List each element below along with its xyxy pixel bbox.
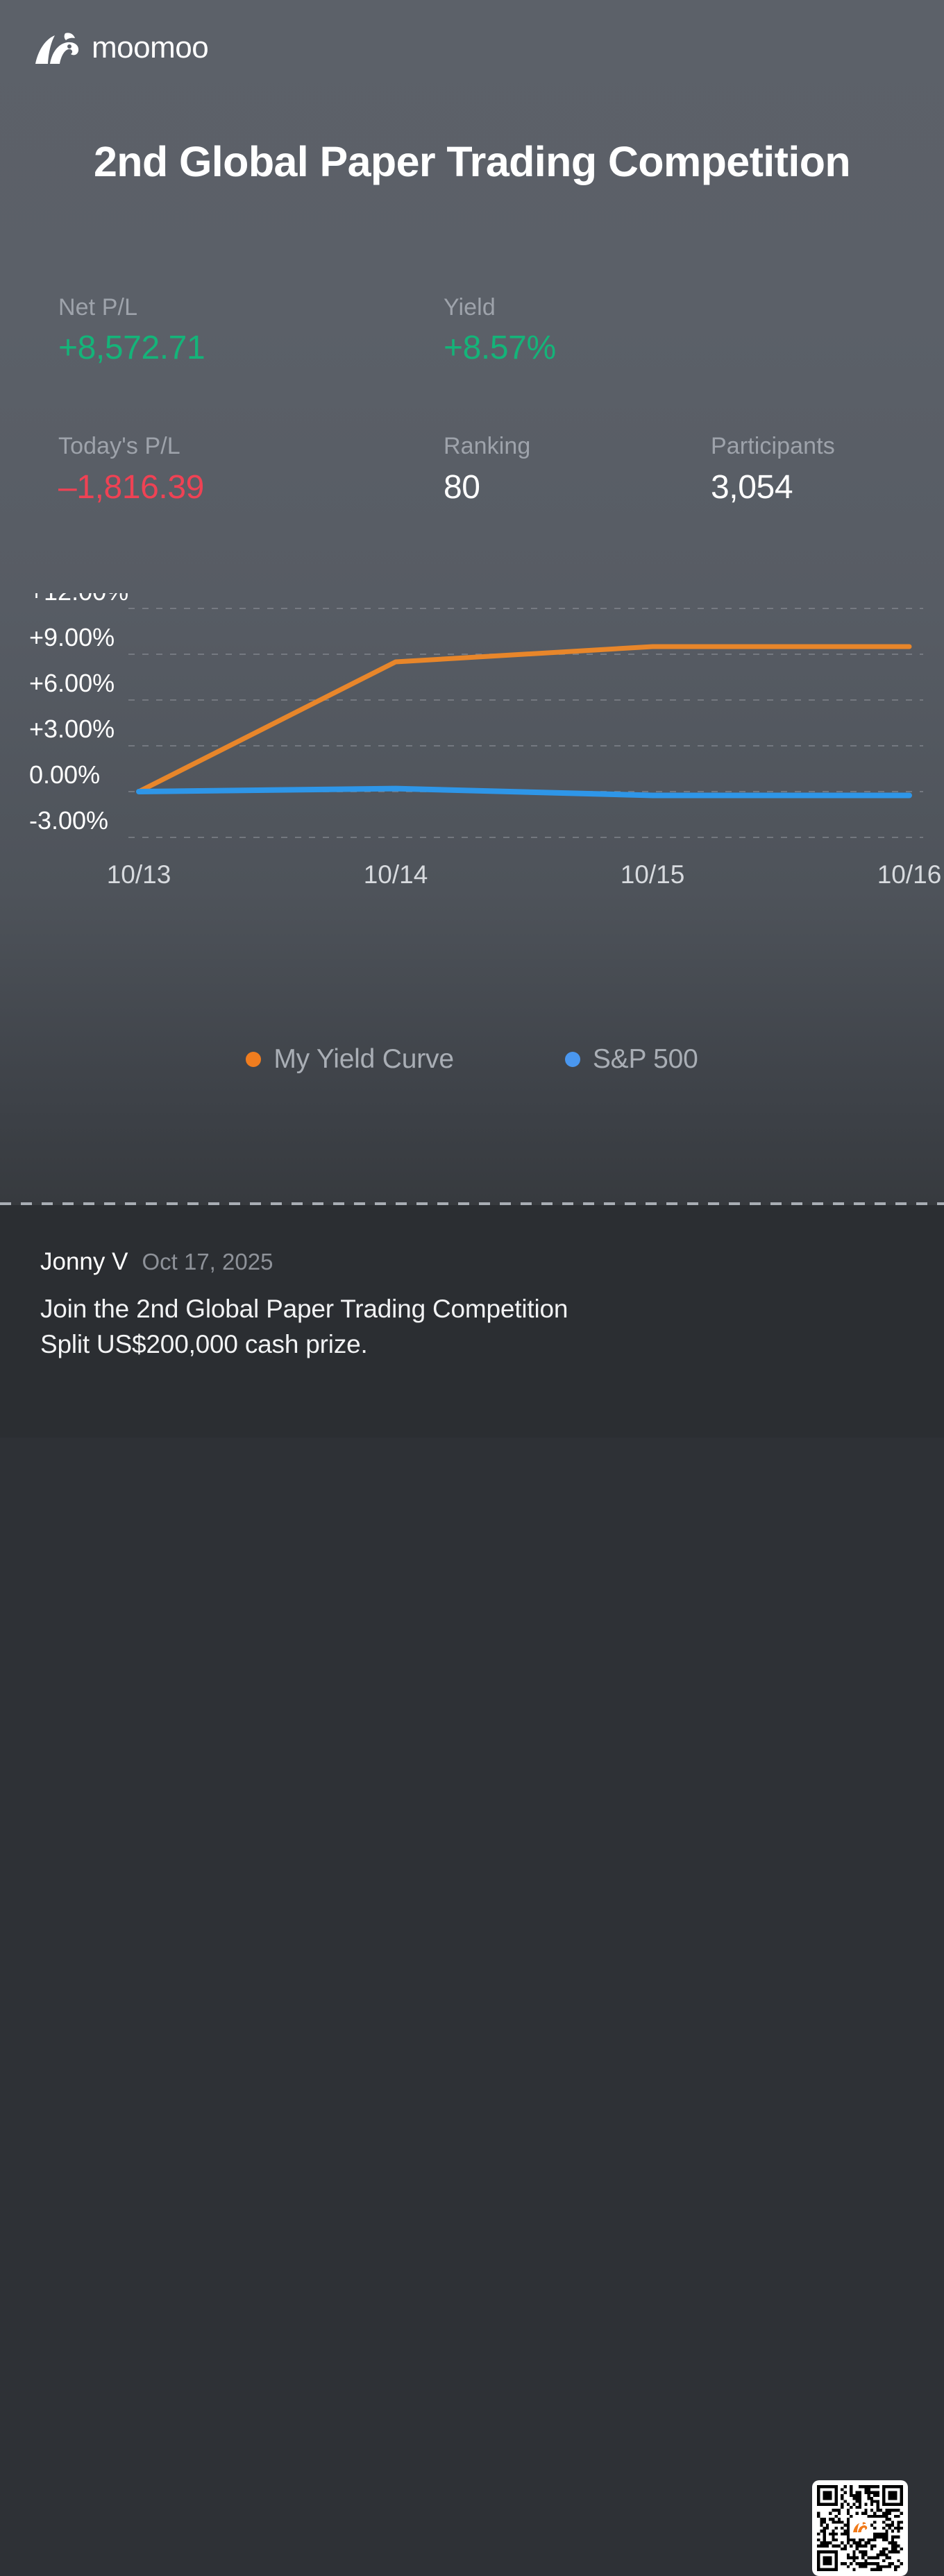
stat-participants-label: Participants xyxy=(711,434,944,459)
footer: Jonny V Oct 17, 2025 Join the 2nd Global… xyxy=(0,1205,944,1438)
chart-y-tick-label: 0.00% xyxy=(29,760,100,789)
stat-spacer xyxy=(652,295,944,367)
share-card: moomoo 2nd Global Paper Trading Competit… xyxy=(0,0,944,1438)
stat-net-pl-label: Net P/L xyxy=(58,295,385,321)
stat-net-pl-value: +8,572.71 xyxy=(58,330,385,367)
stats-row-1: Net P/L +8,572.71 Yield +8.57% xyxy=(0,295,944,367)
legend-dot-icon-my-yield-curve xyxy=(246,1052,261,1067)
stat-ranking: Ranking 80 xyxy=(385,434,652,506)
legend-label-my-yield-curve: My Yield Curve xyxy=(273,1044,453,1075)
stat-participants: Participants 3,054 xyxy=(652,434,944,506)
chart-x-tick-label: 10/14 xyxy=(364,860,428,889)
legend-dot-icon-sp500 xyxy=(565,1052,580,1067)
author-name: Jonny V xyxy=(40,1248,128,1276)
promo-line-2: Split US$200,000 cash prize. xyxy=(40,1327,790,1362)
stat-net-pl: Net P/L +8,572.71 xyxy=(0,295,385,367)
legend-item-my-yield-curve: My Yield Curve xyxy=(246,1044,453,1075)
brand-logo: moomoo xyxy=(33,29,208,67)
chart-series-line-my-yield-curve xyxy=(139,647,909,792)
chart-y-tick-label: +9.00% xyxy=(29,623,115,651)
publish-date: Oct 17, 2025 xyxy=(142,1249,273,1275)
stat-ranking-value: 80 xyxy=(444,470,652,506)
stats-row-2: Today's P/L –1,816.39 Ranking 80 Partici… xyxy=(0,434,944,506)
stat-todays-pl-value: –1,816.39 xyxy=(58,470,385,506)
legend-item-sp500: S&P 500 xyxy=(565,1044,698,1075)
chart-y-tick-label: +3.00% xyxy=(29,715,115,743)
stat-todays-pl-label: Today's P/L xyxy=(58,434,385,459)
legend-label-sp500: S&P 500 xyxy=(593,1044,698,1075)
chart-y-tick-label: +12.00% xyxy=(29,593,128,606)
yield-curve-chart: +12.00%+9.00%+6.00%+3.00%0.00%-3.00%10/1… xyxy=(0,593,944,1065)
stat-yield: Yield +8.57% xyxy=(385,295,652,367)
chart-legend: My Yield Curve S&P 500 xyxy=(0,1044,944,1075)
stats-panel: Net P/L +8,572.71 Yield +8.57% Today's P… xyxy=(0,295,944,506)
promo-text: Join the 2nd Global Paper Trading Compet… xyxy=(40,1291,790,1362)
page-title: 2nd Global Paper Trading Competition xyxy=(83,135,861,189)
chart-series-line-sp500 xyxy=(139,789,909,796)
chart-canvas: +12.00%+9.00%+6.00%+3.00%0.00%-3.00%10/1… xyxy=(0,593,944,1065)
chart-y-tick-label: -3.00% xyxy=(29,806,108,835)
moomoo-bull-logo-icon xyxy=(33,29,81,67)
chart-y-tick-label: +6.00% xyxy=(29,669,115,697)
chart-x-tick-label: 10/15 xyxy=(621,860,685,889)
brand-name: moomoo xyxy=(92,33,208,63)
byline: Jonny V Oct 17, 2025 xyxy=(40,1248,790,1276)
stat-yield-label: Yield xyxy=(444,295,652,321)
chart-x-tick-label: 10/13 xyxy=(107,860,171,889)
footer-content: Jonny V Oct 17, 2025 Join the 2nd Global… xyxy=(40,1248,790,1362)
stat-ranking-label: Ranking xyxy=(444,434,652,459)
qr-code[interactable] xyxy=(812,2480,908,2576)
promo-line-1: Join the 2nd Global Paper Trading Compet… xyxy=(40,1291,790,1327)
stat-yield-value: +8.57% xyxy=(444,330,652,367)
qr-code-icon xyxy=(817,2485,903,2571)
stat-participants-value: 3,054 xyxy=(711,470,944,506)
stat-todays-pl: Today's P/L –1,816.39 xyxy=(0,434,385,506)
chart-x-tick-label: 10/16 xyxy=(877,860,942,889)
